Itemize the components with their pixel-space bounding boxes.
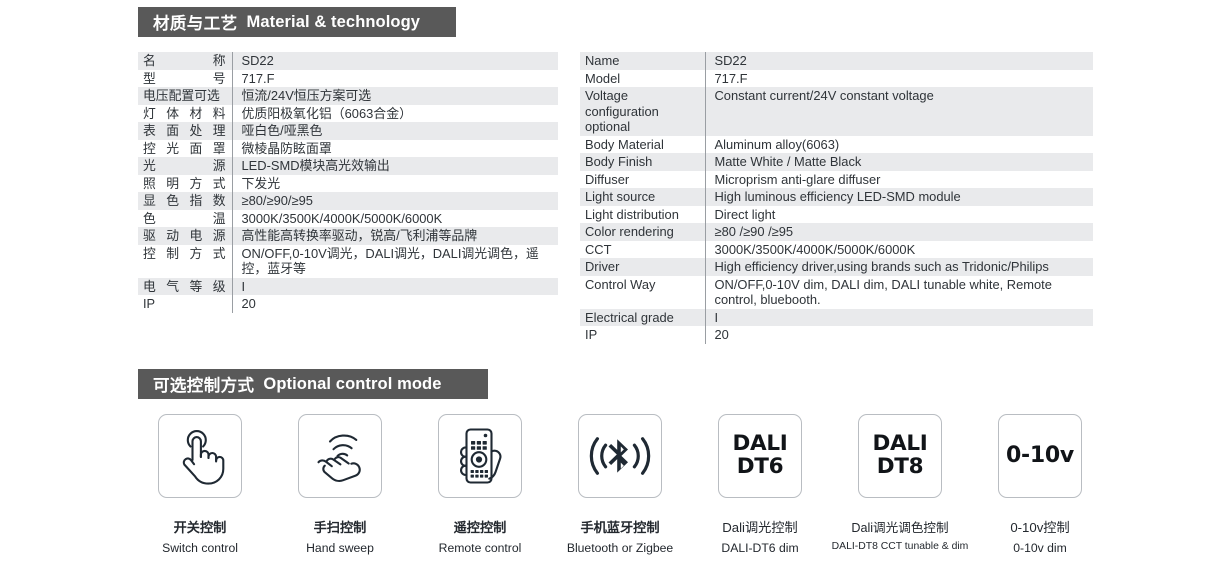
table-row: Light sourceHigh luminous efficiency LED…: [580, 188, 1093, 206]
spec-value-label: 高性能高转换率驱动，锐高/飞利浦等品牌: [242, 228, 478, 243]
table-row: 灯体材料优质阳极氧化铝（6063合金）: [138, 105, 558, 123]
spec-key-label: Electrical grade: [585, 310, 699, 326]
spec-value-label: Matte White / Matte Black: [715, 154, 862, 169]
table-row: 名称SD22: [138, 52, 558, 70]
spec-key-label: 电气等级: [143, 279, 226, 295]
control-mode-item[interactable]: DALIDT6Dali调光控制DALI-DT6 dim: [690, 414, 830, 555]
spec-key-label: Body Finish: [585, 154, 699, 170]
spec-key-label: 灯体材料: [143, 106, 226, 122]
control-mode-item[interactable]: 手机蓝牙控制Bluetooth or Zigbee: [550, 414, 690, 555]
spec-key-label: Name: [585, 53, 699, 69]
spec-value-label: 20: [715, 327, 729, 342]
spec-key-label: Control Way: [585, 277, 699, 293]
spec-key-cell: Electrical grade: [580, 309, 705, 327]
table-row: 电气等级I: [138, 278, 558, 296]
spec-value-label: Microprism anti-glare diffuser: [715, 172, 881, 187]
table-row: Body FinishMatte White / Matte Black: [580, 153, 1093, 171]
control-mode-label-cn: 遥控控制: [454, 517, 507, 536]
spec-key-cell: Diffuser: [580, 171, 705, 189]
spec-key-label: 名称: [143, 53, 226, 69]
spec-value-label: I: [715, 310, 719, 325]
spec-key-cell: 控制方式: [138, 245, 232, 278]
section-header-material: 材质与工艺 Material & technology: [138, 7, 456, 37]
table-row: DriverHigh efficiency driver,using brand…: [580, 258, 1093, 276]
control-mode-label-en: DALI-DT8 CCT tunable & dim: [832, 541, 969, 552]
spec-key-cell: 灯体材料: [138, 105, 232, 123]
spec-key-cell: Control Way: [580, 276, 705, 309]
badge-text: DALIDT6: [733, 433, 788, 479]
spec-key-cell: 表面处理: [138, 122, 232, 140]
spec-value-cell: ON/OFF,0-10V dim, DALI dim, DALI tunable…: [705, 276, 1093, 309]
spec-value-cell: I: [232, 278, 558, 296]
table-row: Body MaterialAluminum alloy(6063): [580, 136, 1093, 154]
spec-value-label: 717.F: [715, 71, 748, 86]
spec-key-cell: Body Finish: [580, 153, 705, 171]
spec-value-cell: 微棱晶防眩面罩: [232, 140, 558, 158]
spec-value-cell: 优质阳极氧化铝（6063合金）: [232, 105, 558, 123]
section-header-control-title-cn: 可选控制方式: [153, 372, 254, 396]
table-row: 照明方式下发光: [138, 175, 558, 193]
control-mode-item[interactable]: 手扫控制Hand sweep: [270, 414, 410, 555]
spec-key-label: Light distribution: [585, 207, 699, 223]
spec-value-cell: 20: [705, 326, 1093, 344]
spec-value-cell: 20: [232, 295, 558, 313]
spec-value-label: SD22: [715, 53, 747, 68]
table-row: CCT3000K/3500K/4000K/5000K/6000K: [580, 241, 1093, 259]
control-mode-label-en: Bluetooth or Zigbee: [567, 541, 673, 555]
spec-key-label: 控光面罩: [143, 141, 226, 157]
control-mode-label-cn: Dali调光调色控制: [851, 517, 948, 536]
spec-key-cell: Driver: [580, 258, 705, 276]
spec-value-cell: ≥80 /≥90 /≥95: [705, 223, 1093, 241]
table-row: 电压配置可选恒流/24V恒压方案可选: [138, 87, 558, 105]
spec-value-cell: High efficiency driver,using brands such…: [705, 258, 1093, 276]
table-row: NameSD22: [580, 52, 1093, 70]
spec-key-cell: Voltage configuration optional: [580, 87, 705, 136]
spec-table-english: NameSD22Model717.FVoltage configuration …: [580, 52, 1093, 344]
spec-key-cell: CCT: [580, 241, 705, 259]
spec-value-cell: 高性能高转换率驱动，锐高/飞利浦等品牌: [232, 227, 558, 245]
spec-key-cell: 光源: [138, 157, 232, 175]
section-header-control-mode: 可选控制方式 Optional control mode: [138, 369, 488, 399]
spec-value-label: ON/OFF,0-10V调光，DALI调光，DALI调光调色，遥控，蓝牙等: [242, 246, 539, 277]
badge-text: DALIDT8: [873, 433, 928, 479]
spec-value-cell: Matte White / Matte Black: [705, 153, 1093, 171]
table-row: Model717.F: [580, 70, 1093, 88]
spec-value-cell: 恒流/24V恒压方案可选: [232, 87, 558, 105]
table-row: 控制方式ON/OFF,0-10V调光，DALI调光，DALI调光调色，遥控，蓝牙…: [138, 245, 558, 278]
spec-key-label: 表面处理: [143, 123, 226, 139]
spec-key-label: IP: [143, 296, 226, 312]
spec-value-cell: Microprism anti-glare diffuser: [705, 171, 1093, 189]
spec-key-label: 光源: [143, 158, 226, 174]
zero-to-ten-volt-badge-icon[interactable]: 0-10v: [998, 414, 1082, 498]
spec-value-cell: 哑白色/哑黑色: [232, 122, 558, 140]
spec-value-label: Direct light: [715, 207, 776, 222]
spec-value-cell: LED-SMD模块高光效输出: [232, 157, 558, 175]
spec-key-cell: Light source: [580, 188, 705, 206]
control-mode-label-cn: 0-10v控制: [1010, 517, 1069, 536]
spec-value-cell: 717.F: [705, 70, 1093, 88]
section-header-material-title-en: Material & technology: [247, 13, 421, 32]
spec-key-cell: Model: [580, 70, 705, 88]
table-row: 色温3000K/3500K/4000K/5000K/6000K: [138, 210, 558, 228]
spec-key-label: 驱动电源: [143, 228, 226, 244]
spec-key-cell: 电气等级: [138, 278, 232, 296]
spec-value-cell: 3000K/3500K/4000K/5000K/6000K: [232, 210, 558, 228]
spec-value-label: High efficiency driver,using brands such…: [715, 259, 1049, 274]
spec-value-label: ON/OFF,0-10V dim, DALI dim, DALI tunable…: [715, 277, 1052, 308]
badge-line-1: DALI: [733, 433, 788, 456]
control-mode-item[interactable]: 遥控控制Remote control: [410, 414, 550, 555]
table-row: Control WayON/OFF,0-10V dim, DALI dim, D…: [580, 276, 1093, 309]
spec-key-label: Color rendering: [585, 224, 699, 240]
control-mode-label-cn: 开关控制: [174, 517, 227, 536]
spec-key-cell: 照明方式: [138, 175, 232, 193]
spec-key-cell: Name: [580, 52, 705, 70]
table-row: Light distributionDirect light: [580, 206, 1093, 224]
spec-value-label: 下发光: [242, 176, 281, 191]
hand-sweep-icon[interactable]: [298, 414, 382, 498]
badge-line-2: DT6: [733, 456, 788, 479]
spec-key-label: Driver: [585, 259, 699, 275]
table-row: Color rendering≥80 /≥90 /≥95: [580, 223, 1093, 241]
spec-key-label: Voltage configuration optional: [585, 88, 699, 135]
spec-key-label: 控制方式: [143, 246, 226, 262]
spec-key-label: CCT: [585, 242, 699, 258]
spec-value-cell: SD22: [705, 52, 1093, 70]
spec-key-label: 型号: [143, 71, 226, 87]
spec-value-label: 恒流/24V恒压方案可选: [242, 88, 372, 103]
control-mode-label-cn: 手机蓝牙控制: [580, 517, 659, 536]
spec-value-cell: I: [705, 309, 1093, 327]
spec-key-cell: Body Material: [580, 136, 705, 154]
spec-key-cell: 驱动电源: [138, 227, 232, 245]
spec-key-label: 电压配置可选: [143, 88, 226, 104]
spec-key-cell: 显色指数: [138, 192, 232, 210]
spec-key-cell: IP: [580, 326, 705, 344]
control-mode-label-cn: Dali调光控制: [722, 517, 797, 536]
spec-value-cell: ≥80/≥90/≥95: [232, 192, 558, 210]
spec-value-label: 微棱晶防眩面罩: [242, 141, 332, 156]
spec-key-label: 显色指数: [143, 193, 226, 209]
control-mode-label-en: Switch control: [162, 541, 238, 555]
control-mode-label-en: 0-10v dim: [1013, 541, 1067, 555]
spec-value-cell: Aluminum alloy(6063): [705, 136, 1093, 154]
spec-value-cell: 下发光: [232, 175, 558, 193]
spec-value-label: SD22: [242, 53, 274, 68]
dali-dt8-badge-icon[interactable]: DALIDT8: [858, 414, 942, 498]
spec-key-cell: 型号: [138, 70, 232, 88]
spec-key-cell: Color rendering: [580, 223, 705, 241]
control-mode-item[interactable]: DALIDT8Dali调光调色控制DALI-DT8 CCT tunable & …: [830, 414, 970, 555]
remote-control-icon[interactable]: [438, 414, 522, 498]
spec-value-label: Aluminum alloy(6063): [715, 137, 840, 152]
spec-value-label: High luminous efficiency LED-SMD module: [715, 189, 961, 204]
table-row: 驱动电源高性能高转换率驱动，锐高/飞利浦等品牌: [138, 227, 558, 245]
spec-value-cell: SD22: [232, 52, 558, 70]
spec-key-cell: 控光面罩: [138, 140, 232, 158]
section-header-control-title-en: Optional control mode: [263, 375, 441, 394]
spec-value-label: ≥80/≥90/≥95: [242, 193, 313, 208]
table-row: 表面处理哑白色/哑黑色: [138, 122, 558, 140]
spec-value-label: 3000K/3500K/4000K/5000K/6000K: [242, 211, 443, 226]
spec-table-english-body: NameSD22Model717.FVoltage configuration …: [580, 52, 1093, 344]
control-mode-item[interactable]: 开关控制Switch control: [130, 414, 270, 555]
bluetooth-signal-icon[interactable]: [578, 414, 662, 498]
spec-key-cell: 电压配置可选: [138, 87, 232, 105]
spec-table-chinese-body: 名称SD22型号717.F电压配置可选恒流/24V恒压方案可选灯体材料优质阳极氧…: [138, 52, 558, 313]
spec-value-cell: ON/OFF,0-10V调光，DALI调光，DALI调光调色，遥控，蓝牙等: [232, 245, 558, 278]
spec-key-label: Diffuser: [585, 172, 699, 188]
table-row: 光源LED-SMD模块高光效输出: [138, 157, 558, 175]
table-row: Electrical gradeI: [580, 309, 1093, 327]
spec-key-label: Model: [585, 71, 699, 87]
badge-text: 0-10v: [1006, 444, 1074, 467]
control-mode-item[interactable]: 0-10v0-10v控制0-10v dim: [970, 414, 1110, 555]
spec-value-label: 优质阳极氧化铝（6063合金）: [242, 106, 412, 121]
badge-line-1: 0-10v: [1006, 444, 1074, 467]
badge-line-2: DT8: [873, 456, 928, 479]
control-mode-label-en: Remote control: [439, 541, 522, 555]
spec-value-label: Constant current/24V constant voltage: [715, 88, 934, 103]
spec-key-label: 照明方式: [143, 176, 226, 192]
table-row: IP20: [580, 326, 1093, 344]
spec-key-cell: IP: [138, 295, 232, 313]
spec-table-chinese: 名称SD22型号717.F电压配置可选恒流/24V恒压方案可选灯体材料优质阳极氧…: [138, 52, 558, 313]
spec-value-cell: Direct light: [705, 206, 1093, 224]
dali-dt6-badge-icon[interactable]: DALIDT6: [718, 414, 802, 498]
spec-value-label: I: [242, 279, 246, 294]
table-row: DiffuserMicroprism anti-glare diffuser: [580, 171, 1093, 189]
control-mode-label-en: Hand sweep: [306, 541, 374, 555]
table-row: IP20: [138, 295, 558, 313]
control-mode-label-en: DALI-DT6 dim: [721, 541, 798, 555]
spec-key-label: Light source: [585, 189, 699, 205]
control-mode-list: 开关控制Switch control 手扫控制Hand sweep: [130, 414, 1130, 555]
spec-value-label: 3000K/3500K/4000K/5000K/6000K: [715, 242, 916, 257]
spec-value-label: LED-SMD模块高光效输出: [242, 158, 390, 173]
spec-value-label: ≥80 /≥90 /≥95: [715, 224, 794, 239]
spec-value-cell: Constant current/24V constant voltage: [705, 87, 1093, 136]
spec-value-label: 哑白色/哑黑色: [242, 123, 323, 138]
spec-key-cell: 名称: [138, 52, 232, 70]
table-row: 控光面罩微棱晶防眩面罩: [138, 140, 558, 158]
table-row: 显色指数≥80/≥90/≥95: [138, 192, 558, 210]
badge-line-1: DALI: [873, 433, 928, 456]
table-row: Voltage configuration optionalConstant c…: [580, 87, 1093, 136]
spec-key-cell: 色温: [138, 210, 232, 228]
spec-key-label: Body Material: [585, 137, 699, 153]
spec-key-cell: Light distribution: [580, 206, 705, 224]
spec-value-cell: High luminous efficiency LED-SMD module: [705, 188, 1093, 206]
spec-value-cell: 3000K/3500K/4000K/5000K/6000K: [705, 241, 1093, 259]
spec-value-label: 20: [242, 296, 256, 311]
spec-key-label: IP: [585, 327, 699, 343]
table-row: 型号717.F: [138, 70, 558, 88]
tap-hand-icon[interactable]: [158, 414, 242, 498]
control-mode-label-cn: 手扫控制: [314, 517, 367, 536]
spec-key-label: 色温: [143, 211, 226, 227]
spec-value-cell: 717.F: [232, 70, 558, 88]
section-header-material-title-cn: 材质与工艺: [153, 10, 238, 34]
spec-value-label: 717.F: [242, 71, 275, 86]
